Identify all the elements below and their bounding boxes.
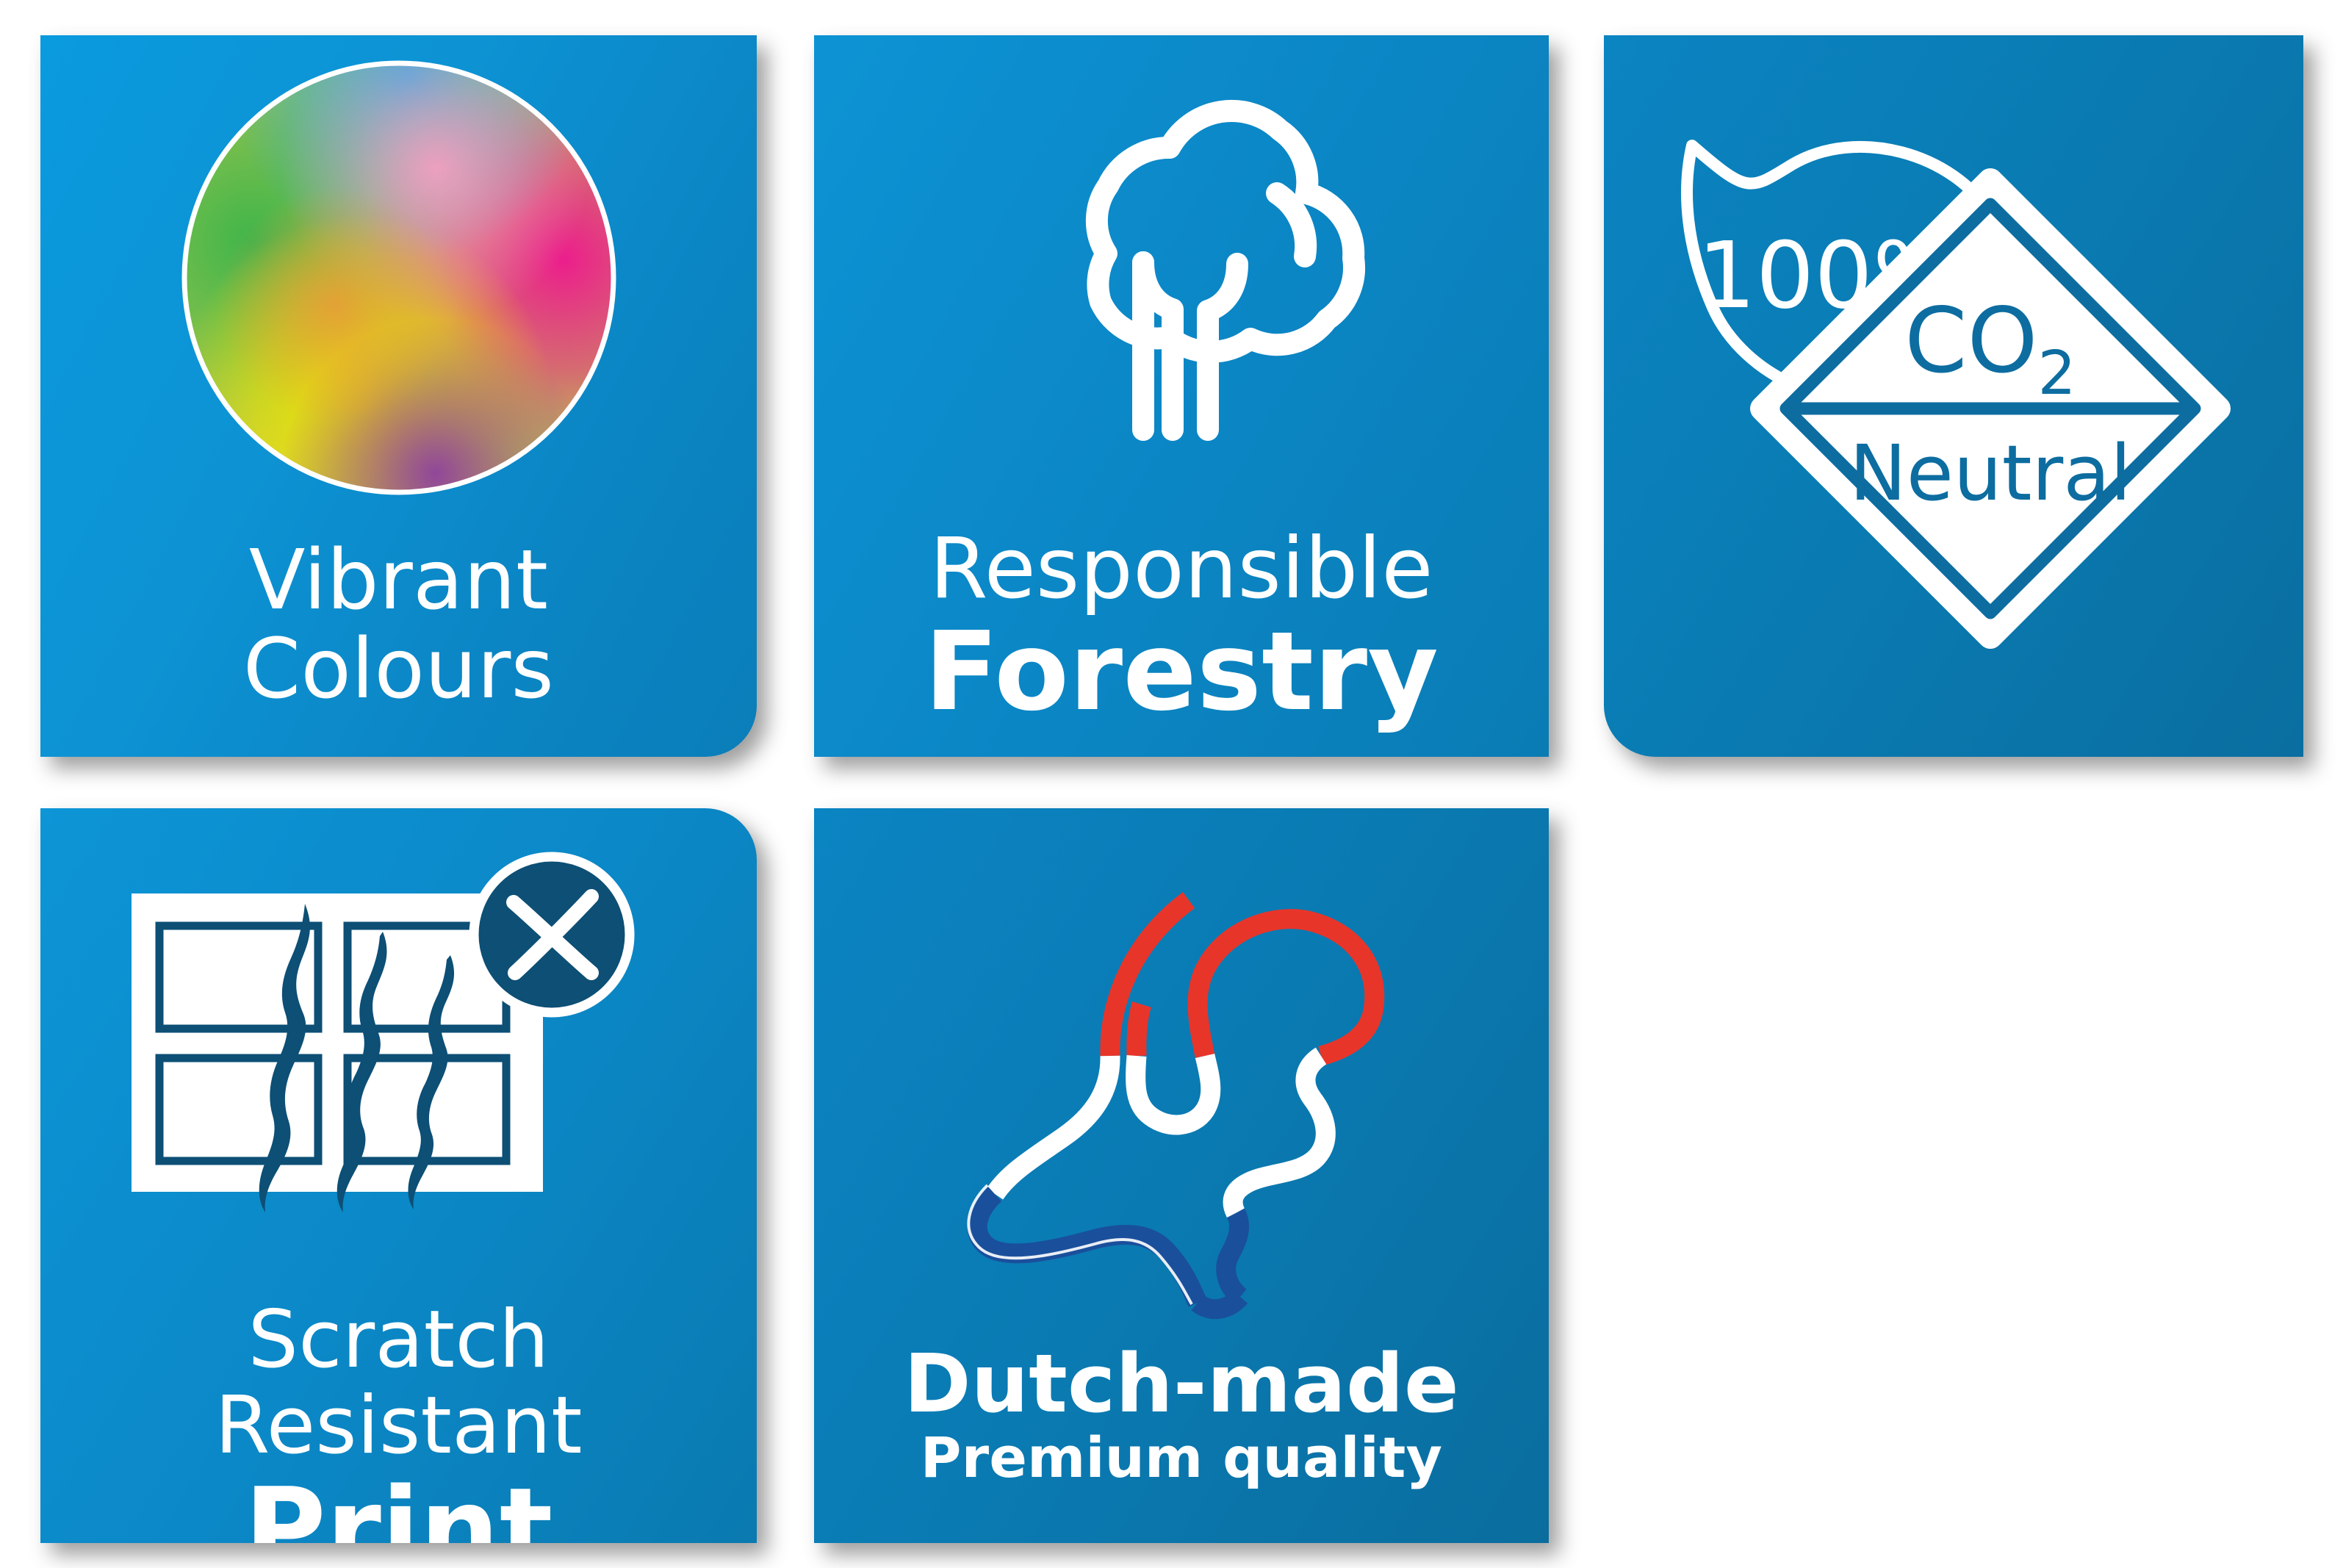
cross-circle-icon	[474, 857, 630, 1013]
co2-neutral-badge-wrap: 100% CO2 N	[1604, 35, 2303, 757]
caption-line-2: Forestry	[814, 614, 1549, 731]
nl-border-red-spur	[1137, 1004, 1142, 1056]
nl-border-red-west	[1110, 900, 1189, 1056]
tile-forestry-caption: Responsible Forestry	[814, 523, 1549, 731]
feature-tile-board: Vibrant Colours	[0, 0, 2343, 1568]
tile-dutch-caption: Dutch-made Premium quality	[814, 1340, 1549, 1488]
caption-line-1: Dutch-made	[814, 1340, 1549, 1428]
nl-border-blue-south	[1198, 1297, 1240, 1309]
tile-scratch-resistant-print[interactable]: Scratch Resistant Print	[40, 808, 757, 1543]
neutral-label: Neutral	[1849, 428, 2131, 518]
tile-dutch-made[interactable]: Dutch-made Premium quality	[814, 808, 1549, 1543]
caption-line-2: Colours	[40, 625, 757, 714]
scratched-panel-icon-wrap	[40, 808, 757, 1279]
caption-line-1: Vibrant	[40, 536, 757, 625]
tree-icon	[954, 61, 1409, 517]
tile-vibrant-caption: Vibrant Colours	[40, 536, 757, 714]
colour-sphere-icon-wrap	[40, 35, 757, 520]
tile-scratch-caption: Scratch Resistant Print	[40, 1298, 757, 1543]
tile-responsible-forestry[interactable]: Responsible Forestry	[814, 35, 1549, 757]
nl-border-red-east	[1198, 919, 1375, 1056]
tree-icon-wrap	[814, 35, 1549, 520]
tile-co2-neutral[interactable]: 100% CO2 N	[1604, 35, 2303, 757]
caption-line-2: Resistant	[40, 1384, 757, 1470]
nl-border-white-ijsselmeer	[1136, 1056, 1211, 1125]
scratched-panel-icon	[105, 823, 693, 1279]
netherlands-outline-icon	[939, 849, 1424, 1304]
caption-line-1: Scratch	[40, 1298, 757, 1384]
caption-line-3: Print	[40, 1469, 757, 1543]
tile-vibrant-colours[interactable]: Vibrant Colours	[40, 35, 757, 757]
nl-border-blue-southeast	[1226, 1213, 1240, 1297]
netherlands-outline-icon-wrap	[814, 808, 1549, 1315]
nl-border-white-east	[1233, 1056, 1325, 1213]
caption-line-1: Responsible	[814, 523, 1549, 614]
nl-border-blue-southwest	[977, 1194, 1198, 1303]
co2-neutral-badge-icon: 100% CO2 N	[1660, 123, 2247, 638]
colour-sphere-icon	[171, 50, 627, 506]
nl-border-white-west	[995, 1056, 1110, 1194]
caption-line-2: Premium quality	[814, 1428, 1549, 1488]
